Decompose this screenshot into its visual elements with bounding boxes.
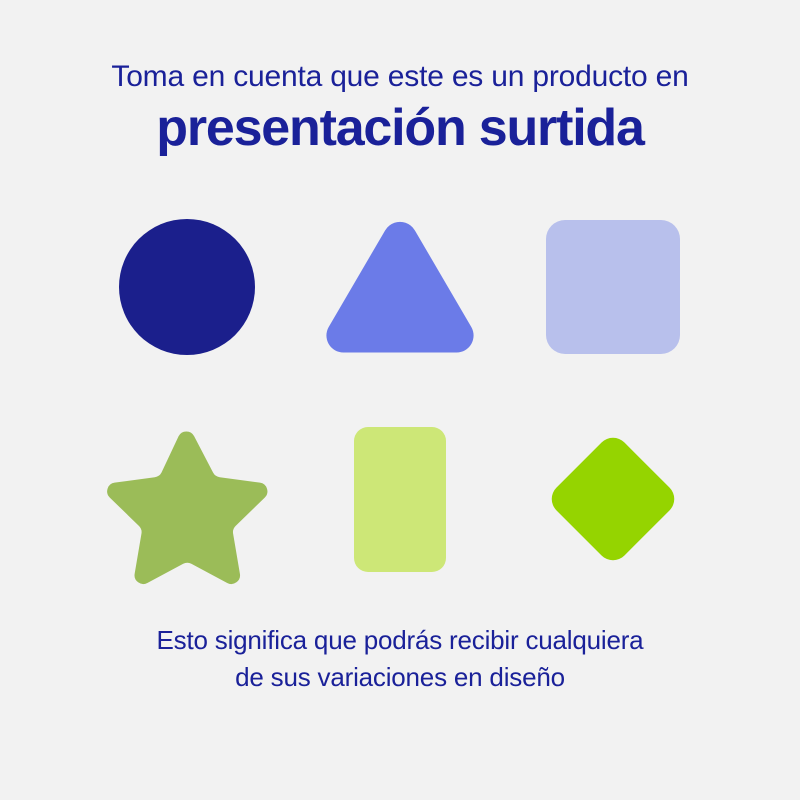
shape-item-square: [523, 202, 703, 372]
shape-item-circle: [97, 202, 277, 372]
footer-line-2: de sus variaciones en diseño: [0, 659, 800, 696]
footer-note: Esto significa que podrás recibir cualqu…: [0, 622, 800, 696]
triangle-shape-icon: [323, 217, 477, 357]
diamond-shape-icon: [536, 421, 690, 577]
heading-line-1: Toma en cuenta que este es un producto e…: [0, 58, 800, 96]
shape-item-star: [97, 414, 277, 584]
assorted-presentation-poster: Toma en cuenta que este es un producto e…: [0, 0, 800, 800]
star-shape-icon: [110, 425, 264, 573]
footer-line-1: Esto significa que podrás recibir cualqu…: [0, 622, 800, 659]
shape-gallery: [80, 202, 720, 584]
heading-line-2: presentación surtida: [0, 98, 800, 158]
shape-item-rectangle: [310, 414, 490, 584]
square-shape-icon: [545, 219, 681, 355]
shape-item-diamond: [523, 414, 703, 584]
shape-item-triangle: [310, 202, 490, 372]
page-title: Toma en cuenta que este es un producto e…: [0, 58, 800, 158]
rectangle-shape-icon: [353, 426, 447, 573]
circle-shape-icon: [117, 217, 257, 357]
